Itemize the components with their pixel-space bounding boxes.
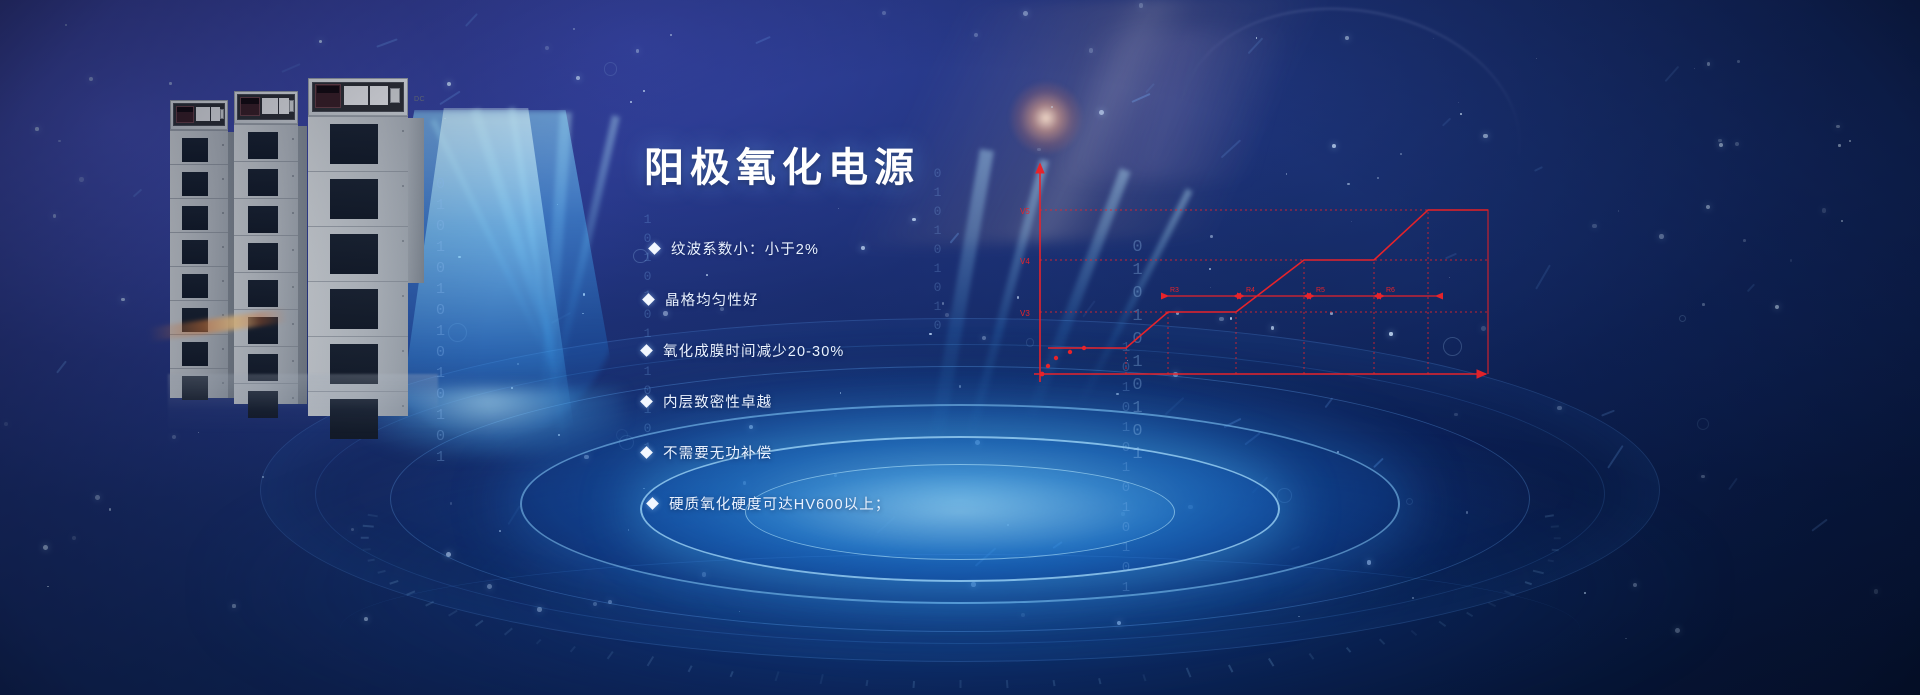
cabinet-2-vent-slot <box>248 243 278 270</box>
particle <box>43 545 48 550</box>
particle <box>364 617 368 621</box>
cabinet-3-vent-slot <box>330 124 378 164</box>
particle <box>593 602 597 606</box>
podium-tick <box>1411 630 1417 636</box>
cabinet-1-vent-slot <box>182 240 208 264</box>
podium-tick <box>730 671 734 677</box>
cabinet-reflection <box>168 374 438 434</box>
cabinet-screw <box>402 240 404 242</box>
podium-tick <box>368 514 378 517</box>
cabinet-3-seam <box>308 116 408 117</box>
cabinet-2-side <box>298 126 307 404</box>
cabinet-2-hmi-display <box>241 98 259 104</box>
particle <box>1460 113 1462 115</box>
particle <box>739 611 740 612</box>
diamond-bullet-icon <box>640 446 653 459</box>
binary-strip-1: 01010101010101 <box>432 176 449 470</box>
feature-item-5: 不需要无功补偿 <box>642 441 1164 463</box>
cabinet-2-vent-slot <box>248 132 278 159</box>
particle <box>450 502 452 504</box>
particle <box>1836 125 1839 128</box>
cabinet-1-seam <box>170 232 228 233</box>
particle-streak <box>1251 477 1267 494</box>
particle <box>1706 205 1710 209</box>
cabinet-screw <box>292 360 294 362</box>
particle <box>576 76 580 80</box>
cabinet-3-label-card <box>344 86 368 105</box>
bokeh-circle <box>1697 418 1709 430</box>
diamond-bullet-icon <box>648 242 661 255</box>
particle <box>319 40 323 44</box>
particle <box>1483 134 1488 139</box>
cabinet-screw <box>222 314 224 316</box>
particle-streak <box>1245 432 1261 445</box>
cabinet-3-vent-slot <box>330 289 378 329</box>
cabinet-screw <box>292 138 294 140</box>
particle <box>1188 505 1193 510</box>
podium-tick <box>390 581 399 585</box>
feature-item-4: 内层致密性卓越 <box>642 390 1164 412</box>
particle-streak <box>376 38 398 48</box>
podium-tick <box>1380 639 1386 645</box>
bokeh-circle <box>1679 315 1686 322</box>
cabinet-2-vent-slot <box>248 206 278 233</box>
cabinet-3-meter <box>390 88 400 103</box>
podium-tick <box>1099 677 1102 684</box>
cabinet-1-seam <box>170 300 228 301</box>
particle-streak <box>132 189 142 198</box>
particle <box>53 214 56 217</box>
cabinet-1-vent-slot <box>182 206 208 230</box>
banner-root: DC 01010101010101 1010101010101 01010101… <box>0 0 1920 695</box>
particle-streak <box>1665 66 1680 82</box>
cabinet-brand-mark: DC <box>414 96 425 103</box>
particle-streak <box>1811 518 1828 531</box>
particle <box>1433 38 1434 39</box>
podium-tick <box>377 570 385 573</box>
particle <box>499 530 501 532</box>
podium-tick <box>1229 664 1234 672</box>
cabinet-1-vent-slot <box>182 138 208 162</box>
particle <box>630 101 632 103</box>
particle <box>58 140 60 142</box>
particle <box>1707 62 1710 65</box>
particle <box>1838 144 1840 146</box>
feature-item-3: 氧化成膜时间减少20-30% <box>642 339 1164 361</box>
particle <box>1618 210 1619 211</box>
particle <box>537 607 542 612</box>
podium-tick <box>1551 525 1559 527</box>
particle <box>1874 589 1878 593</box>
podium-tick <box>406 591 415 596</box>
particle <box>1051 106 1053 108</box>
podium-tick <box>1006 679 1008 687</box>
particle <box>628 529 629 530</box>
podium-tick <box>1505 591 1515 596</box>
particle-streak <box>974 548 996 567</box>
particle <box>89 77 93 81</box>
particle <box>1412 597 1414 599</box>
cabinet-1-meter <box>220 109 224 119</box>
feature-item-1: 纹波系数小：小于2% <box>650 237 1164 259</box>
cabinet-3-label-card-2 <box>370 86 388 105</box>
podium-tick <box>1186 667 1191 677</box>
podium-tick <box>449 611 458 617</box>
cabinet-screw <box>222 246 224 248</box>
particle <box>1089 48 1093 52</box>
feature-item-2: 晶格均匀性好 <box>644 288 1164 310</box>
cabinet-3-seam <box>308 171 408 172</box>
particle <box>545 46 549 50</box>
particle-streak <box>1746 284 1754 292</box>
podium-outer-glowline <box>340 554 1580 695</box>
diamond-bullet-icon <box>646 497 659 510</box>
podium-tick <box>1269 658 1275 666</box>
chart-right-bracket <box>1428 210 1488 374</box>
particle <box>1675 628 1680 633</box>
feature-item-label: 晶格均匀性好 <box>665 289 759 310</box>
cabinet-2-seam <box>234 346 298 347</box>
cabinet-1-label-card <box>196 107 210 121</box>
particle <box>65 24 67 26</box>
particle <box>1557 406 1562 411</box>
cabinet-screw <box>402 350 404 352</box>
particle <box>1592 224 1597 229</box>
particle <box>109 508 112 511</box>
podium-tick <box>1488 602 1496 607</box>
particle-streak <box>1601 409 1615 416</box>
feature-item-label: 纹波系数小：小于2% <box>671 238 819 259</box>
particle <box>1718 139 1721 142</box>
podium-tick <box>504 628 513 636</box>
particle-streak <box>1223 418 1241 428</box>
particle <box>1584 592 1586 594</box>
cabinet-2-seam <box>234 309 298 310</box>
feature-list: 纹波系数小：小于2%晶格均匀性好氧化成膜时间减少20-30%内层致密性卓越不需要… <box>644 237 1164 514</box>
bokeh-circle <box>1277 488 1291 502</box>
particle <box>1466 511 1469 514</box>
cabinet-2-meter <box>289 100 294 112</box>
cabinet-screw <box>222 178 224 180</box>
podium-tick <box>1553 537 1560 539</box>
diamond-bullet-icon <box>642 293 655 306</box>
particle <box>95 495 100 500</box>
particle <box>882 11 886 15</box>
particle <box>351 528 354 531</box>
cabinet-screw <box>292 323 294 325</box>
cabinet-3-vent-slot <box>330 179 378 219</box>
particle <box>121 298 125 302</box>
particle <box>1841 220 1844 223</box>
particle <box>1139 3 1144 8</box>
podium-tick <box>1439 621 1446 627</box>
particle-streak <box>465 14 478 28</box>
podium-tick <box>1534 570 1545 574</box>
particle <box>4 422 9 427</box>
cabinet-2-label-card <box>262 98 278 114</box>
cabinet-screw <box>222 144 224 146</box>
cabinet-1-seam <box>170 164 228 165</box>
particle <box>232 604 235 607</box>
cabinet-2-seam <box>234 161 298 162</box>
cabinet-3-vent-slot <box>330 234 378 274</box>
particle <box>1117 621 1121 625</box>
podium-tick <box>607 652 614 660</box>
cabinet-3-hmi-display <box>317 86 339 93</box>
cabinet-3-side <box>408 118 424 283</box>
particle-streak <box>56 360 67 373</box>
particle <box>1367 560 1371 564</box>
particle <box>1822 208 1826 212</box>
cabinet-screw <box>222 280 224 282</box>
particle <box>971 582 975 586</box>
podium-tick <box>866 680 868 686</box>
bokeh-circle <box>1406 498 1413 505</box>
cabinet-1-seam <box>170 198 228 199</box>
particle <box>172 435 176 439</box>
podium-tick <box>960 680 962 688</box>
particle <box>1701 475 1705 479</box>
podium-tick <box>475 620 483 627</box>
particle <box>1454 413 1457 416</box>
particle <box>1735 142 1739 146</box>
cabinet-screw <box>292 175 294 177</box>
cabinet-2-label-card-2 <box>279 98 289 114</box>
podium-tick <box>820 674 824 684</box>
cabinet-2-vent-slot <box>248 280 278 307</box>
particle <box>47 586 48 587</box>
podium-tick <box>775 671 779 681</box>
particle <box>1298 616 1299 617</box>
cabinet-screw <box>292 212 294 214</box>
particle <box>702 572 707 577</box>
chart-xtick-r6: R6 <box>1386 287 1395 294</box>
podium-tick <box>1544 514 1553 517</box>
particle <box>1625 638 1627 640</box>
particle-streak <box>508 505 521 525</box>
particle <box>1702 303 1705 306</box>
bokeh-circle <box>604 62 617 75</box>
cabinet-1-vent-slot <box>182 274 208 298</box>
cabinet-2-seam <box>234 272 298 273</box>
particle <box>1849 140 1851 142</box>
particle-streak <box>1534 166 1543 172</box>
podium-tick <box>1552 548 1559 550</box>
particle <box>1775 305 1779 309</box>
podium-tick <box>571 646 577 652</box>
cabinet-2-vent-slot <box>248 169 278 196</box>
feature-item-label: 氧化成膜时间减少20-30% <box>663 340 844 361</box>
podium-tick <box>363 525 374 527</box>
podium-tick <box>647 656 654 666</box>
cabinet-2-seam <box>234 235 298 236</box>
podium-tick <box>363 548 371 550</box>
diamond-bullet-icon <box>640 344 653 357</box>
cabinet-2-seam <box>234 198 298 199</box>
page-title: 阳极氧化电源 <box>644 146 1164 190</box>
particle <box>1737 60 1740 63</box>
cabinet-1-vent-slot <box>182 342 208 366</box>
cabinet-screw <box>402 130 404 132</box>
podium-tick <box>1524 581 1531 585</box>
podium-tick <box>1547 560 1554 562</box>
particle-streak <box>1325 398 1334 408</box>
podium-tick <box>536 639 541 644</box>
cabinet-screw <box>402 185 404 187</box>
podium-tick <box>1309 653 1314 660</box>
lens-flare-core <box>1010 82 1082 154</box>
podium-tick <box>361 537 369 539</box>
cabinet-2-seam <box>234 124 298 125</box>
particle <box>487 584 492 589</box>
particle-streak <box>281 63 300 73</box>
particle <box>636 49 639 52</box>
particle <box>72 536 76 540</box>
cabinet-screw <box>222 212 224 214</box>
chart-xtick-r5: R5 <box>1316 287 1325 294</box>
cabinet-screw <box>292 249 294 251</box>
podium-tick <box>1053 680 1055 686</box>
cabinet-1-seam <box>170 130 228 131</box>
particle <box>1345 36 1349 40</box>
particle <box>1694 68 1695 69</box>
particle-streak <box>1291 545 1300 550</box>
content-block: 阳极氧化电源 纹波系数小：小于2%晶格均匀性好氧化成膜时间减少20-30%内层致… <box>644 146 1164 543</box>
cabinet-screw <box>222 348 224 350</box>
feature-item-6: 硬质氧化硬度可达HV600以上； <box>648 492 1164 514</box>
cabinet-3-seam <box>308 226 408 227</box>
particle <box>262 476 263 477</box>
podium-tick <box>1143 674 1147 681</box>
particle <box>643 90 645 92</box>
particle <box>1536 58 1537 59</box>
podium-tick <box>913 680 915 687</box>
cabinet-1-seam <box>170 266 228 267</box>
particle <box>1021 613 1026 618</box>
particle <box>1790 259 1793 262</box>
cabinet-screw <box>292 286 294 288</box>
particle <box>573 28 574 29</box>
particle <box>1719 143 1723 147</box>
particle <box>35 127 39 131</box>
cabinet-1-label-card-2 <box>211 107 220 121</box>
particle <box>670 34 672 36</box>
feature-item-label: 硬质氧化硬度可达HV600以上； <box>669 493 890 514</box>
particle <box>1659 234 1663 238</box>
chart-xtick-r4: R4 <box>1246 287 1255 294</box>
particle-streak <box>1373 458 1383 468</box>
particle-streak <box>1608 445 1624 468</box>
particle-streak <box>1164 397 1184 415</box>
particle <box>446 552 451 557</box>
podium-tick <box>426 601 435 607</box>
podium-tick <box>1346 647 1351 653</box>
particle <box>1633 583 1637 587</box>
feature-item-label: 内层致密性卓越 <box>663 391 772 412</box>
cabinet-3-seam <box>308 281 408 282</box>
feature-item-label: 不需要无功补偿 <box>663 442 772 463</box>
particle <box>1743 239 1746 242</box>
podium-tick <box>688 665 693 672</box>
cabinet-1-hmi-display <box>177 107 193 112</box>
particle-streak <box>1728 477 1738 489</box>
podium-tick <box>368 560 375 563</box>
particle <box>79 177 84 182</box>
particle <box>608 600 612 604</box>
cabinet-1-seam <box>170 368 228 369</box>
particle <box>1337 451 1339 453</box>
chart-xtick-r3: R3 <box>1170 287 1179 294</box>
cabinet-3-seam <box>308 336 408 337</box>
cabinet-1-vent-slot <box>182 172 208 196</box>
particle <box>1332 144 1336 148</box>
particle <box>1458 102 1459 103</box>
diamond-bullet-icon <box>640 395 653 408</box>
podium-tick <box>1466 612 1472 617</box>
particle-streak <box>1535 264 1551 289</box>
cabinet-screw <box>402 295 404 297</box>
